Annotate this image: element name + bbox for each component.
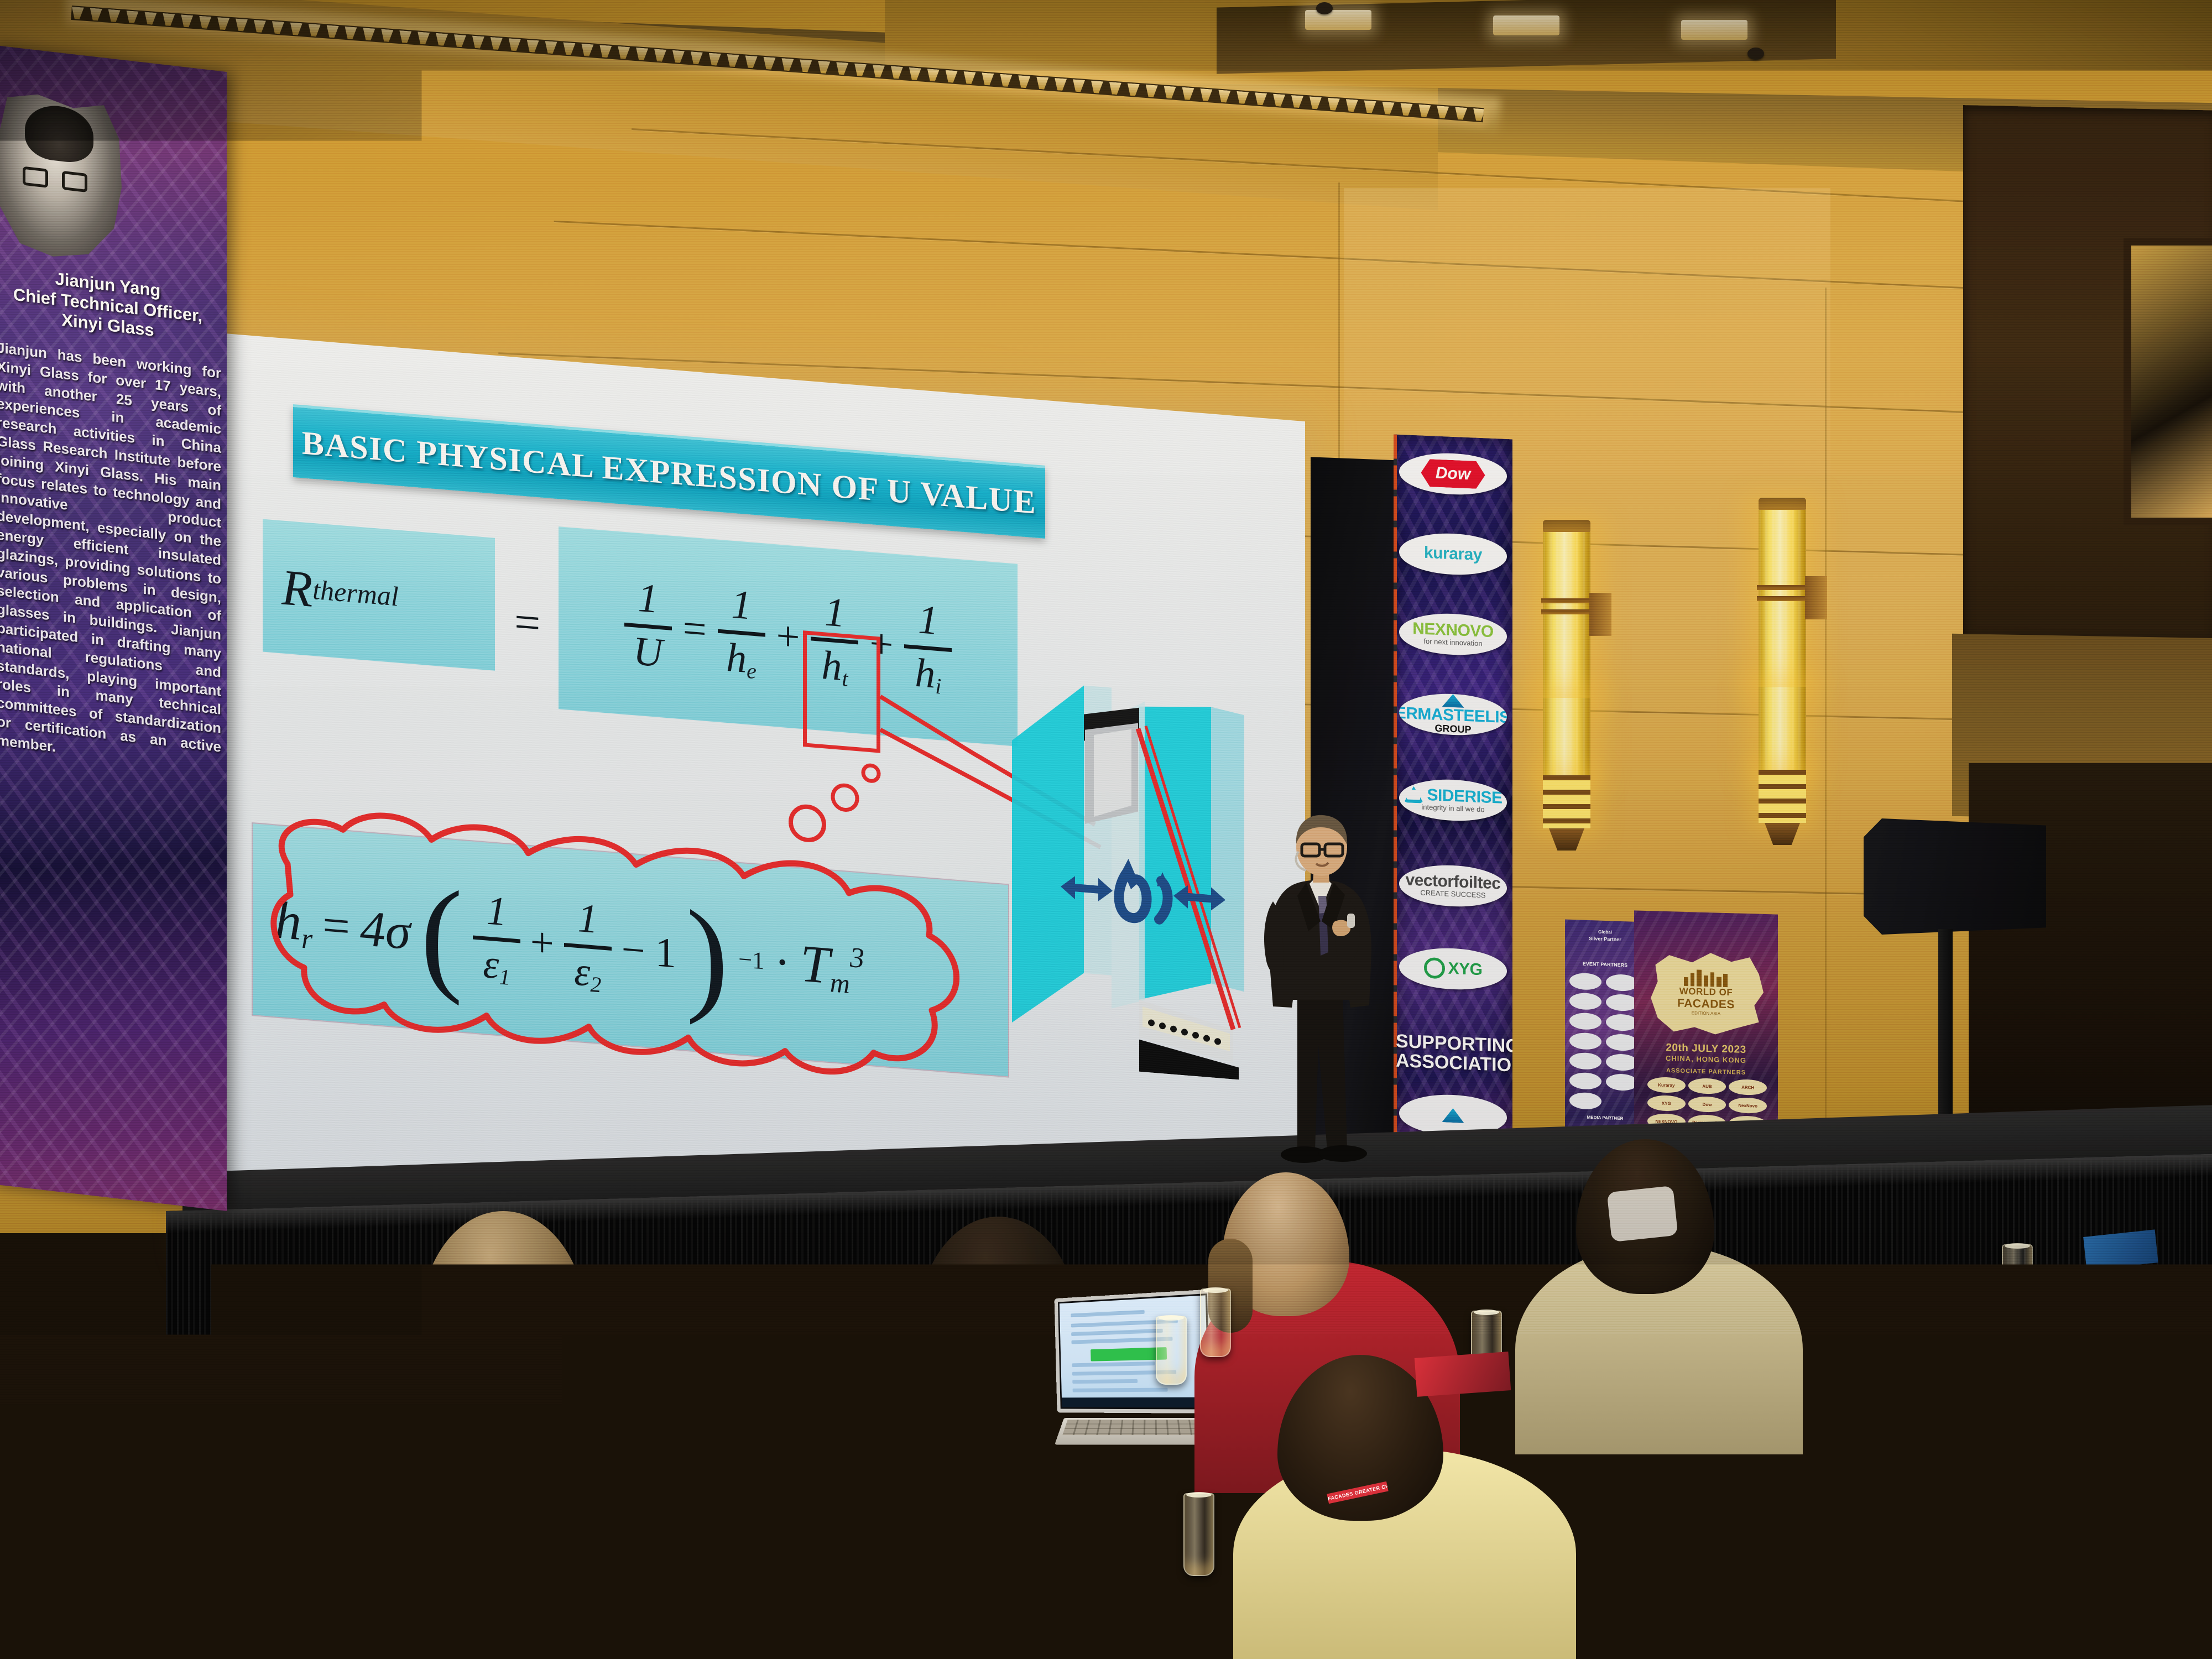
cove-light-segment bbox=[471, 36, 484, 49]
water-glass[interactable] bbox=[1200, 1288, 1231, 1357]
speaker-name-block: Jianjun Yang Chief Technical Officer, Xi… bbox=[0, 262, 227, 349]
cove-light-segment bbox=[544, 41, 557, 54]
fraction-denominator: ε2 bbox=[574, 951, 601, 996]
kuraray-logo: kuraray bbox=[1399, 531, 1507, 577]
cove-light-segment bbox=[399, 30, 412, 44]
sconce-foot bbox=[1765, 823, 1800, 845]
side-banner-partner-logo bbox=[1569, 1072, 1601, 1090]
fraction-denominator: ε1 bbox=[483, 943, 510, 989]
formula2-dot: · bbox=[774, 933, 790, 990]
cove-light-segment bbox=[617, 46, 630, 60]
water-glass[interactable] bbox=[1001, 1593, 1029, 1659]
cove-light-segment bbox=[817, 61, 831, 74]
cove-light-segment bbox=[489, 37, 503, 50]
cove-light-segment bbox=[1036, 77, 1049, 90]
cove-light-segment bbox=[289, 23, 302, 36]
slide-title-banner: BASIC PHYSICAL EXPRESSION OF U VALUE bbox=[293, 404, 1045, 539]
cove-light-segment bbox=[162, 13, 175, 27]
cove-light-segment bbox=[1436, 106, 1449, 119]
cove-light-segment bbox=[653, 49, 666, 62]
cove-light-segment bbox=[854, 64, 867, 77]
laptop-taskbar[interactable] bbox=[1062, 1397, 1208, 1408]
cove-light-segment bbox=[217, 17, 230, 30]
associate-partner-logo: AUB bbox=[1688, 1078, 1726, 1094]
portrait-hair bbox=[25, 102, 93, 165]
cove-light-segment bbox=[999, 74, 1013, 87]
cove-light-segment bbox=[1126, 84, 1140, 97]
service-door[interactable] bbox=[1969, 763, 2212, 1150]
sconce-foot bbox=[1549, 828, 1584, 851]
event-title-line1: WORLD OF bbox=[1679, 985, 1733, 998]
cove-light-segment bbox=[1018, 75, 1031, 88]
formula1-equals: = bbox=[514, 595, 540, 651]
sponsor-logo-text: vectorfoiltec bbox=[1406, 872, 1501, 892]
side-banner-partner-logo bbox=[1569, 993, 1601, 1010]
formula1-rhs-box: 1 U = 1 he + 1 ht + 1 bbox=[559, 526, 1018, 747]
circle-leaf-icon bbox=[1424, 957, 1445, 979]
formula2-inner-op-plus: + bbox=[530, 917, 554, 967]
formula1-lhs-box: Rthermal bbox=[263, 519, 495, 671]
sconce-band bbox=[1541, 598, 1592, 603]
triangle-outline-icon bbox=[1404, 786, 1423, 804]
associate-partner-logo: Kuraray bbox=[1647, 1077, 1686, 1093]
cove-light-segment bbox=[526, 40, 539, 53]
cove-light-segment bbox=[1290, 95, 1303, 108]
cove-light-segment bbox=[781, 58, 794, 71]
smoke-detector-icon bbox=[1747, 48, 1764, 60]
cove-light-segment bbox=[671, 50, 685, 64]
cove-light-segment bbox=[890, 66, 903, 79]
cove-light-segment bbox=[926, 69, 940, 82]
cove-light-segment bbox=[1400, 103, 1413, 116]
fraction-1-over-eps1: 1 ε1 bbox=[473, 889, 520, 989]
sconce-cap bbox=[1759, 498, 1806, 510]
speaker-portrait bbox=[0, 90, 122, 264]
event-title-line2: FACADES bbox=[1677, 997, 1735, 1011]
fraction-denominator: he bbox=[726, 637, 757, 682]
side-banner-partner-logo bbox=[1606, 1053, 1638, 1071]
cove-light-segment bbox=[1308, 96, 1322, 109]
portrait-eyeglass-right bbox=[62, 171, 87, 192]
cove-light-segment bbox=[908, 67, 921, 81]
fraction-numerator: 1 bbox=[825, 591, 845, 634]
supporting-association-label: SUPPORTINGASSOCIATION bbox=[1396, 1032, 1512, 1075]
cove-light-segment bbox=[453, 34, 466, 48]
sponsor-logo-tagline: for next innovation bbox=[1423, 638, 1482, 648]
event-logo-splash: WORLD OF FACADES EDITION ASIA bbox=[1648, 950, 1764, 1036]
water-glass[interactable] bbox=[1183, 1493, 1214, 1576]
cove-light-segment bbox=[435, 33, 448, 46]
formula2-coefficient: 4σ bbox=[360, 899, 410, 961]
cove-light-segment bbox=[872, 65, 885, 78]
triangle-icon bbox=[1442, 1108, 1464, 1123]
slide-title-text: BASIC PHYSICAL EXPRESSION OF U VALUE bbox=[302, 424, 1036, 521]
speaker-bio: Jianjun has been working for Xinyi Glass… bbox=[0, 338, 227, 776]
carpet bbox=[0, 1526, 199, 1659]
sconce-tube bbox=[1759, 510, 1806, 687]
formula1-lhs-subscript: thermal bbox=[312, 573, 399, 613]
cove-light-segment bbox=[271, 21, 284, 34]
formula1-lhs-symbol: R bbox=[281, 557, 312, 619]
cove-light-segment bbox=[417, 32, 430, 45]
associate-partners-label: ASSOCIATE PARTNERS bbox=[1634, 1066, 1778, 1077]
side-banner-partner-logo bbox=[1606, 994, 1638, 1011]
side-banner-partners-label: EVENT PARTNERS bbox=[1565, 960, 1645, 968]
sponsor-tower: DowkurarayNEXNOVOfor next innovationPERM… bbox=[1394, 434, 1512, 1175]
sconce-base bbox=[1543, 775, 1590, 828]
side-banner-bottom-label: MEDIA PARTNER bbox=[1565, 1114, 1645, 1121]
cove-light-segment bbox=[981, 72, 994, 86]
side-banner-partner-logo bbox=[1606, 1034, 1638, 1051]
fraction-numerator: 1 bbox=[731, 583, 752, 626]
cove-light-segment bbox=[562, 42, 576, 55]
cove-light-segment bbox=[799, 60, 812, 73]
sconce-bracket bbox=[1589, 593, 1611, 636]
cove-light-segment bbox=[89, 8, 102, 21]
cove-light-segment bbox=[1108, 82, 1121, 95]
laptop-lid bbox=[1055, 1289, 1215, 1413]
fraction-1-over-he: 1 he bbox=[718, 582, 765, 683]
water-glass[interactable] bbox=[1853, 1438, 1884, 1521]
paren-open: ( bbox=[420, 894, 463, 976]
side-banner-partner-logo bbox=[1606, 1073, 1638, 1091]
cove-light-segment bbox=[253, 20, 266, 33]
cove-light-segment bbox=[1090, 81, 1103, 94]
sponsor-logo-tagline: CREATE SUCCESS bbox=[1420, 889, 1485, 899]
cove-light-segment bbox=[963, 71, 976, 85]
wall-art-frame bbox=[2124, 238, 2212, 525]
paren-close: ) bbox=[686, 915, 729, 998]
xyg-logo: XYG bbox=[1399, 946, 1507, 992]
sponsor-logo-text: XYG bbox=[1448, 961, 1483, 979]
cove-light-segment bbox=[836, 62, 849, 75]
cove-light-segment bbox=[144, 12, 157, 25]
ceiling-light-panel bbox=[1305, 10, 1371, 30]
sponsor-logo-tagline: GROUP bbox=[1434, 723, 1471, 736]
dow-logo: Dow bbox=[1399, 451, 1507, 497]
sconce-bracket bbox=[1805, 576, 1827, 619]
cove-light-segment bbox=[1345, 99, 1358, 112]
conference-folder[interactable] bbox=[1415, 1352, 1511, 1397]
event-subtitle: EDITION ASIA bbox=[1692, 1010, 1720, 1016]
fraction-denominator: hi bbox=[915, 652, 941, 697]
cove-light-segment bbox=[508, 38, 521, 51]
dow-diamond-mark: Dow bbox=[1421, 459, 1485, 489]
fraction-denominator: U bbox=[633, 630, 662, 674]
side-banner-partner-logo bbox=[1569, 1052, 1601, 1070]
cove-light-segment bbox=[362, 28, 375, 41]
cove-light-segment bbox=[945, 70, 958, 84]
cove-light-segment bbox=[599, 45, 612, 58]
triangle-icon bbox=[1442, 693, 1464, 708]
cove-light-segment bbox=[708, 53, 721, 66]
nexnovo-logo: NEXNOVOfor next innovation bbox=[1399, 612, 1507, 657]
cove-light-segment bbox=[180, 14, 194, 28]
formula1-op-plus-1: + bbox=[776, 612, 800, 661]
sponsor-logo-text: kuraray bbox=[1424, 545, 1482, 564]
side-banner-partner-logo bbox=[1606, 1014, 1638, 1031]
skyline-icon bbox=[1684, 969, 1728, 987]
vectorfoiltec-logo: vectorfoiltecCREATE SUCCESS bbox=[1399, 863, 1507, 909]
portrait-eyeglass-left bbox=[23, 166, 48, 188]
cove-light-segment bbox=[380, 29, 394, 43]
cove-light-segment bbox=[1418, 105, 1431, 118]
fraction-numerator: 1 bbox=[638, 577, 658, 619]
cove-light-segment bbox=[107, 9, 121, 23]
cove-light-segment bbox=[1363, 101, 1376, 114]
sconce-tube bbox=[1543, 532, 1590, 698]
eyeglasses-icon bbox=[1880, 1344, 1947, 1369]
formula2-box: hr = 4σ ( 1 ε1 + 1 ε2 − 1 ) −1 bbox=[252, 822, 1009, 1078]
conference-hall-photo: BASIC PHYSICAL EXPRESSION OF U VALUE Rth… bbox=[0, 0, 2212, 1659]
permasteelisa-logo: PERMASTEELISAGROUP bbox=[1399, 692, 1507, 737]
cove-light-segment bbox=[1327, 98, 1340, 111]
formula2-lhs: hr bbox=[275, 889, 312, 956]
cove-light-segment bbox=[1145, 85, 1158, 98]
fraction-numerator: 1 bbox=[577, 897, 598, 940]
cove-light-segment bbox=[581, 44, 594, 57]
cove-light-segment bbox=[1454, 107, 1468, 120]
wall-sconce-left bbox=[1543, 520, 1590, 863]
associate-partner-logo: NexNovo bbox=[1729, 1097, 1767, 1114]
sconce-base bbox=[1759, 770, 1806, 823]
associate-partner-logo: XYG bbox=[1647, 1095, 1686, 1112]
supporting-association-line2: ASSOCIATION bbox=[1396, 1051, 1512, 1074]
formula2-inner-one: 1 bbox=[655, 928, 676, 978]
sconce-tube-lower bbox=[1543, 698, 1590, 775]
face-mask bbox=[1607, 1186, 1678, 1242]
fraction-1-over-hi: 1 hi bbox=[904, 598, 952, 698]
cove-light-segment bbox=[199, 16, 212, 29]
wall-sconce-right bbox=[1759, 498, 1806, 863]
cove-light-segment bbox=[326, 25, 339, 38]
ht-highlight-box bbox=[803, 630, 880, 753]
associate-partner-logo: Dow bbox=[1688, 1096, 1726, 1113]
cove-light-segment bbox=[1254, 92, 1267, 106]
cove-light-segment bbox=[1473, 108, 1484, 122]
fraction-numerator: 1 bbox=[918, 599, 938, 641]
cove-light-segment bbox=[1054, 78, 1067, 91]
cove-light-segment bbox=[1072, 79, 1086, 92]
speaker-profile-banner: Jianjun Yang Chief Technical Officer, Xi… bbox=[0, 45, 227, 1211]
cove-light-segment bbox=[1272, 94, 1286, 107]
pa-speaker bbox=[1864, 818, 2046, 935]
presenter-on-stage bbox=[1244, 813, 1405, 1189]
side-banner-partner-logo bbox=[1569, 973, 1601, 990]
water-glass[interactable] bbox=[2002, 1244, 2033, 1313]
cove-light-segment bbox=[635, 48, 649, 61]
cove-light-segment bbox=[1236, 91, 1249, 105]
cove-light-segment bbox=[234, 18, 248, 32]
sponsor-logo-tagline: integrity in all we do bbox=[1421, 803, 1484, 813]
sconce-tube-lower bbox=[1759, 687, 1806, 770]
ceiling-light-panel bbox=[1493, 15, 1559, 35]
formula2-inner-op-minus: − bbox=[622, 925, 645, 975]
side-banner-top-label-line2: Silver Partner bbox=[1565, 935, 1645, 943]
sconce-band bbox=[1757, 596, 1808, 601]
sconce-band bbox=[1757, 585, 1808, 590]
cove-light-segment bbox=[344, 27, 357, 40]
smoke-detector-icon bbox=[1316, 2, 1333, 14]
sconce-cap bbox=[1543, 520, 1590, 532]
side-banner-partner-logo bbox=[1569, 1092, 1601, 1110]
siderise-logo: SIDERISEintegrity in all we do bbox=[1399, 778, 1507, 823]
cove-light-segment bbox=[1181, 87, 1194, 101]
brochure[interactable] bbox=[221, 1537, 321, 1587]
fraction-1-over-U: 1 U bbox=[624, 576, 672, 674]
side-banner-partner-logo bbox=[1569, 1013, 1601, 1030]
sponsor-logo-text: Dow bbox=[1436, 464, 1470, 484]
sconce-band bbox=[1541, 609, 1592, 614]
associate-partner-logo: ARCH bbox=[1729, 1079, 1767, 1095]
cove-light-segment bbox=[1199, 88, 1213, 102]
cove-light-segment bbox=[763, 57, 776, 70]
cove-light-segment bbox=[1163, 86, 1176, 99]
formula2-exponent: −1 bbox=[738, 945, 764, 975]
formula2-tail: Tm3 bbox=[800, 932, 864, 1000]
cove-light-segment bbox=[690, 51, 703, 65]
cove-light-segment bbox=[1381, 102, 1395, 115]
side-banner-partner-logo bbox=[1606, 974, 1638, 992]
fraction-bar bbox=[624, 622, 672, 630]
cove-light-segment bbox=[126, 11, 139, 24]
fraction-1-over-eps2: 1 ε2 bbox=[564, 896, 612, 997]
cove-light-segment bbox=[307, 24, 321, 37]
fraction-numerator: 1 bbox=[486, 890, 507, 932]
cove-light-segment bbox=[1218, 90, 1231, 103]
formula1-op-equals: = bbox=[683, 604, 707, 654]
cove-light-segment bbox=[744, 55, 758, 69]
formula2-equals: = bbox=[322, 897, 350, 955]
side-banner-partner-logo bbox=[1569, 1032, 1601, 1050]
cove-light-segment bbox=[726, 54, 739, 67]
ceiling-light-panel bbox=[1681, 20, 1747, 40]
water-glass[interactable] bbox=[1156, 1316, 1187, 1385]
cove-light-segment bbox=[71, 7, 84, 20]
